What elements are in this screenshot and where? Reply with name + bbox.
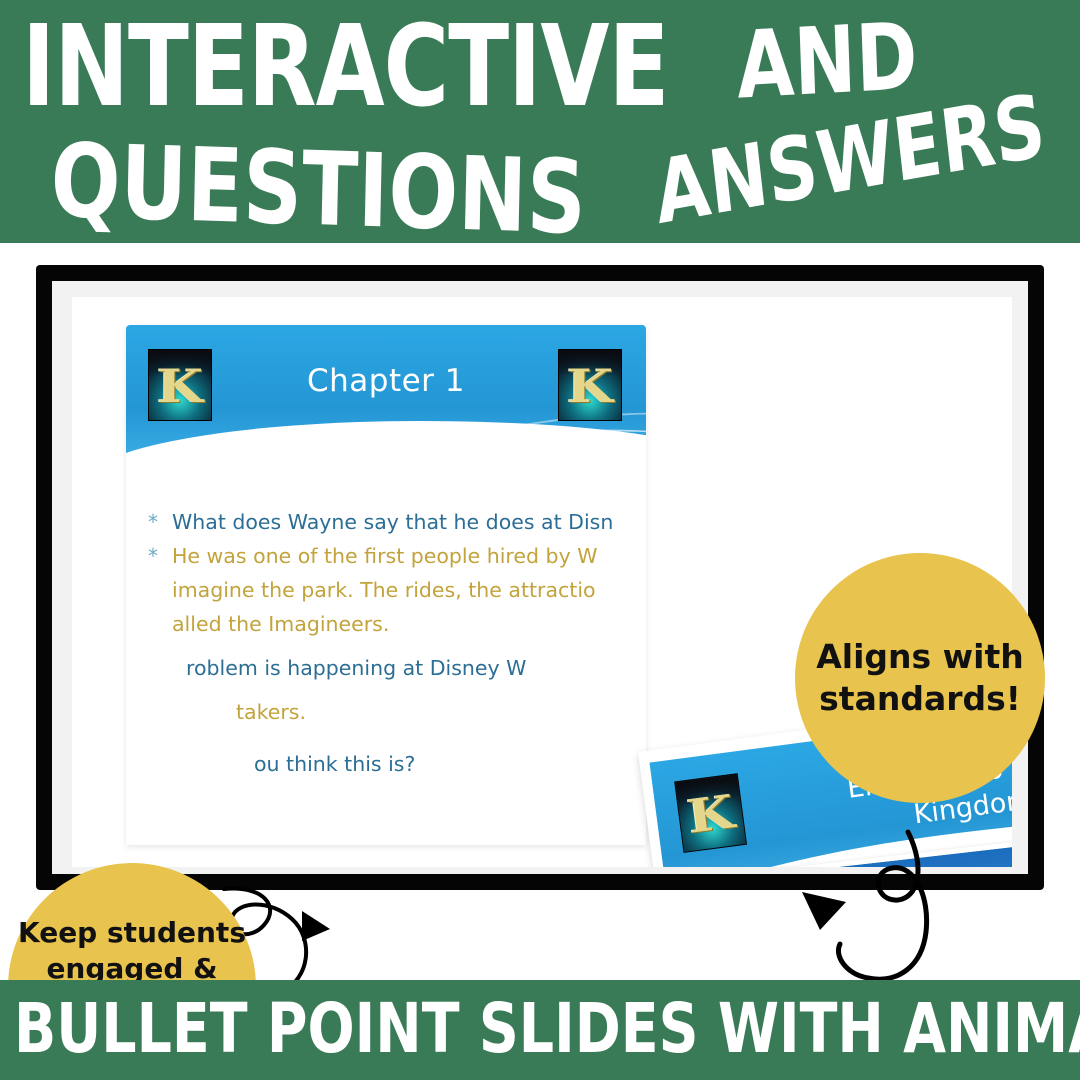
poster-root: INTERACTIVE AND QUESTIONS ANSWERS: [0, 0, 1080, 1080]
slide1-bullet-list: * What does Wayne say that he does at Di…: [126, 477, 646, 845]
bullet-text: takers.: [236, 697, 632, 727]
bullet-item: ou think this is?: [126, 749, 646, 779]
slide1-header: K K Chapter 1: [126, 325, 646, 465]
badge-text: Aligns with standards!: [795, 636, 1045, 720]
slide-chapter-1[interactable]: K K Chapter 1 * What does Wayne sa: [126, 325, 646, 845]
bullet-item: roblem is happening at Disney W: [126, 653, 646, 683]
book-glyph: K: [674, 778, 747, 851]
headline-word-interactive: INTERACTIVE: [22, 6, 668, 128]
badge-aligns-with-standards: Aligns with standards!: [795, 553, 1045, 803]
bullet-star-icon: *: [148, 507, 172, 537]
bullet-star-icon: *: [148, 541, 172, 571]
bullet-text: alled the Imagineers.: [172, 609, 632, 639]
bottom-banner-text: BULLET POINT SLIDES WITH ANIMATION!: [14, 990, 1058, 1071]
bullet-item: alled the Imagineers.: [126, 609, 646, 639]
bottom-banner: BULLET POINT SLIDES WITH ANIMATION!: [0, 980, 1080, 1080]
headline-word-questions: QUESTIONS: [50, 125, 587, 243]
main-content-area: K K Chapter 1 * What does Wayne sa: [0, 243, 1080, 980]
book-cover-icon-left: K: [674, 773, 747, 853]
bullet-item: takers.: [126, 697, 646, 727]
bullet-text: What does Wayne say that he does at Disn: [172, 507, 632, 537]
badge-text: Keep students engaged & excited about re…: [8, 915, 256, 980]
bullet-item: * He was one of the first people hired b…: [126, 541, 646, 571]
slide1-title: Chapter 1: [126, 363, 646, 399]
bullet-text: He was one of the first people hired by …: [172, 541, 632, 571]
bullet-text: roblem is happening at Disney W: [186, 653, 632, 683]
bullet-item: * What does Wayne say that he does at Di…: [126, 507, 646, 537]
bullet-item: imagine the park. The rides, the attract…: [126, 575, 646, 605]
header-curve-shape: [126, 421, 646, 465]
top-banner: INTERACTIVE AND QUESTIONS ANSWERS: [0, 0, 1080, 243]
bullet-text: imagine the park. The rides, the attract…: [172, 575, 632, 605]
bullet-text: ou think this is?: [254, 749, 632, 779]
